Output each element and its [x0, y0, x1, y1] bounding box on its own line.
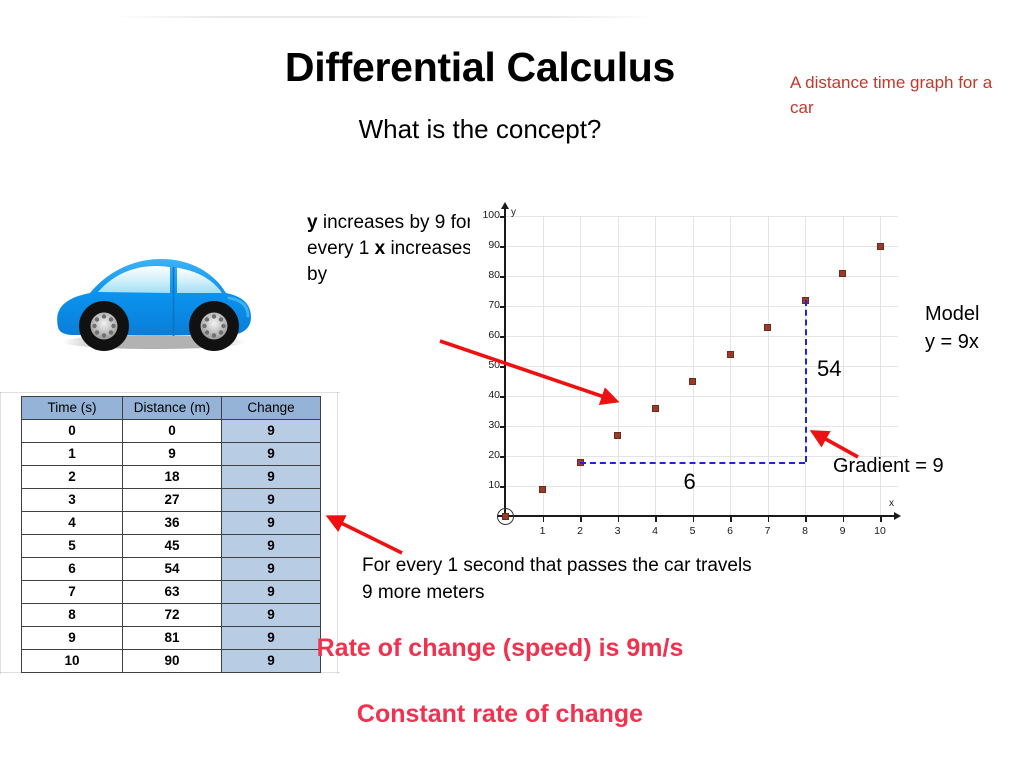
grid-line-vertical — [618, 216, 619, 516]
table-row: 2189 — [22, 466, 321, 489]
cell-time: 4 — [22, 512, 123, 535]
x-axis-label: 8 — [790, 525, 820, 537]
cell-change: 9 — [222, 581, 321, 604]
table-row: 5459 — [22, 535, 321, 558]
y-axis-label: 90 — [464, 239, 500, 251]
cell-distance: 36 — [123, 512, 222, 535]
note-y-var-y: y — [307, 212, 318, 233]
y-axis-tick — [500, 336, 505, 338]
cell-distance: 27 — [123, 489, 222, 512]
cell-distance: 9 — [123, 443, 222, 466]
y-axis-tick — [500, 216, 505, 218]
x-axis-label: 10 — [865, 525, 895, 537]
cell-distance: 63 — [123, 581, 222, 604]
cell-distance: 18 — [123, 466, 222, 489]
x-axis-tick — [805, 517, 807, 522]
distance-time-table: Time (s) Distance (m) Change 00919921893… — [21, 396, 321, 673]
cell-change: 9 — [222, 466, 321, 489]
cell-change: 9 — [222, 420, 321, 443]
x-axis-tick — [843, 517, 845, 522]
x-axis-label: 6 — [715, 525, 745, 537]
y-axis-label: 20 — [464, 449, 500, 461]
y-axis-label: 50 — [464, 359, 500, 371]
table-row: 7639 — [22, 581, 321, 604]
y-axis-tick — [500, 426, 505, 428]
model-equation: y = 9x — [925, 328, 1024, 356]
y-axis-label: 60 — [464, 329, 500, 341]
x-axis-tick — [655, 517, 657, 522]
grid-line-horizontal — [505, 306, 898, 307]
table-row: 8729 — [22, 604, 321, 627]
distance-time-chart: 10203040506070809010012345678910yx 6 54 — [470, 182, 920, 542]
grid-line-horizontal — [505, 486, 898, 487]
cell-change: 9 — [222, 604, 321, 627]
cell-time: 8 — [22, 604, 123, 627]
cell-distance: 72 — [123, 604, 222, 627]
y-increase-note: y increases by 9 for every 1 x increases… — [307, 210, 482, 288]
y-axis-tick — [500, 486, 505, 488]
x-axis-label: 7 — [753, 525, 783, 537]
y-axis-tick — [500, 276, 505, 278]
x-axis-tick — [618, 517, 620, 522]
arrow-to-table — [329, 517, 402, 553]
cell-change: 9 — [222, 558, 321, 581]
conclusion-rate-of-change: Rate of change (speed) is 9m/s — [0, 634, 1000, 663]
cell-time: 3 — [22, 489, 123, 512]
y-axis-label: 40 — [464, 389, 500, 401]
y-axis-label: 30 — [464, 419, 500, 431]
table-row: 4369 — [22, 512, 321, 535]
sheet-top-line — [115, 16, 655, 18]
rise-label: 54 — [817, 356, 841, 382]
x-axis-arrow — [894, 512, 901, 520]
y-axis-name: y — [511, 207, 516, 218]
y-axis-tick — [500, 456, 505, 458]
grid-line-horizontal — [505, 426, 898, 427]
sheet-guide-line — [0, 392, 340, 393]
gradient-annotation: Gradient = 9 — [833, 455, 944, 478]
x-axis-label: 5 — [678, 525, 708, 537]
cell-distance: 0 — [123, 420, 222, 443]
y-axis-tick — [500, 396, 505, 398]
table-header-row: Time (s) Distance (m) Change — [22, 397, 321, 420]
y-axis-arrow — [501, 202, 509, 209]
x-axis — [497, 515, 894, 517]
x-axis-tick — [880, 517, 882, 522]
data-point — [652, 405, 659, 412]
y-axis-label: 10 — [464, 479, 500, 491]
column-header-distance: Distance (m) — [123, 397, 222, 420]
graph-caption: A distance time graph for a car — [790, 70, 1000, 120]
cell-change: 9 — [222, 535, 321, 558]
x-axis-tick — [543, 517, 545, 522]
data-point — [539, 486, 546, 493]
x-axis-tick — [580, 517, 582, 522]
x-axis-label: 2 — [565, 525, 595, 537]
data-point — [614, 432, 621, 439]
grid-line-horizontal — [505, 336, 898, 337]
y-axis-tick — [500, 366, 505, 368]
grid-line-vertical — [768, 216, 769, 516]
grid-line-vertical — [543, 216, 544, 516]
column-header-time: Time (s) — [22, 397, 123, 420]
cell-change: 9 — [222, 443, 321, 466]
sheet-guide-line — [337, 392, 338, 674]
grid-line-horizontal — [505, 216, 898, 217]
conclusion-constant-rate: Constant rate of change — [0, 700, 1000, 729]
cell-time: 0 — [22, 420, 123, 443]
data-point — [689, 378, 696, 385]
grid-line-horizontal — [505, 246, 898, 247]
gradient-run-line — [580, 462, 805, 464]
x-axis-name: x — [889, 498, 894, 509]
x-axis-label: 9 — [828, 525, 858, 537]
x-axis-tick — [768, 517, 770, 522]
x-axis-label: 3 — [603, 525, 633, 537]
x-axis-label: 4 — [640, 525, 670, 537]
cell-distance: 45 — [123, 535, 222, 558]
car-illustration — [46, 243, 261, 363]
y-axis-label: 100 — [464, 209, 500, 221]
cell-change: 9 — [222, 489, 321, 512]
cell-distance: 54 — [123, 558, 222, 581]
table-row: 009 — [22, 420, 321, 443]
x-axis-label: 1 — [528, 525, 558, 537]
cell-change: 9 — [222, 512, 321, 535]
explanation-note: For every 1 second that passes the car t… — [362, 552, 762, 606]
cell-time: 6 — [22, 558, 123, 581]
data-point — [877, 243, 884, 250]
x-axis-tick — [693, 517, 695, 522]
sheet-guide-line — [0, 392, 1, 674]
model-annotation: Model y = 9x — [925, 300, 1024, 356]
table-row: 3279 — [22, 489, 321, 512]
cell-time: 7 — [22, 581, 123, 604]
cell-time: 5 — [22, 535, 123, 558]
cell-time: 2 — [22, 466, 123, 489]
y-axis-label: 70 — [464, 299, 500, 311]
table-row: 6549 — [22, 558, 321, 581]
x-axis-tick — [730, 517, 732, 522]
origin-marker — [497, 508, 514, 525]
data-point — [727, 351, 734, 358]
run-label: 6 — [684, 469, 696, 495]
gradient-rise-line — [805, 300, 807, 462]
y-axis-tick — [500, 246, 505, 248]
y-axis-tick — [500, 306, 505, 308]
cell-time: 1 — [22, 443, 123, 466]
data-point — [764, 324, 771, 331]
grid-line-vertical — [730, 216, 731, 516]
grid-line-vertical — [580, 216, 581, 516]
data-point — [839, 270, 846, 277]
note-y-var-x: x — [375, 238, 386, 259]
model-label: Model — [925, 300, 1024, 328]
y-axis — [504, 208, 506, 518]
table-row: 199 — [22, 443, 321, 466]
grid-line-vertical — [655, 216, 656, 516]
column-header-change: Change — [222, 397, 321, 420]
y-axis-label: 80 — [464, 269, 500, 281]
grid-line-horizontal — [505, 396, 898, 397]
